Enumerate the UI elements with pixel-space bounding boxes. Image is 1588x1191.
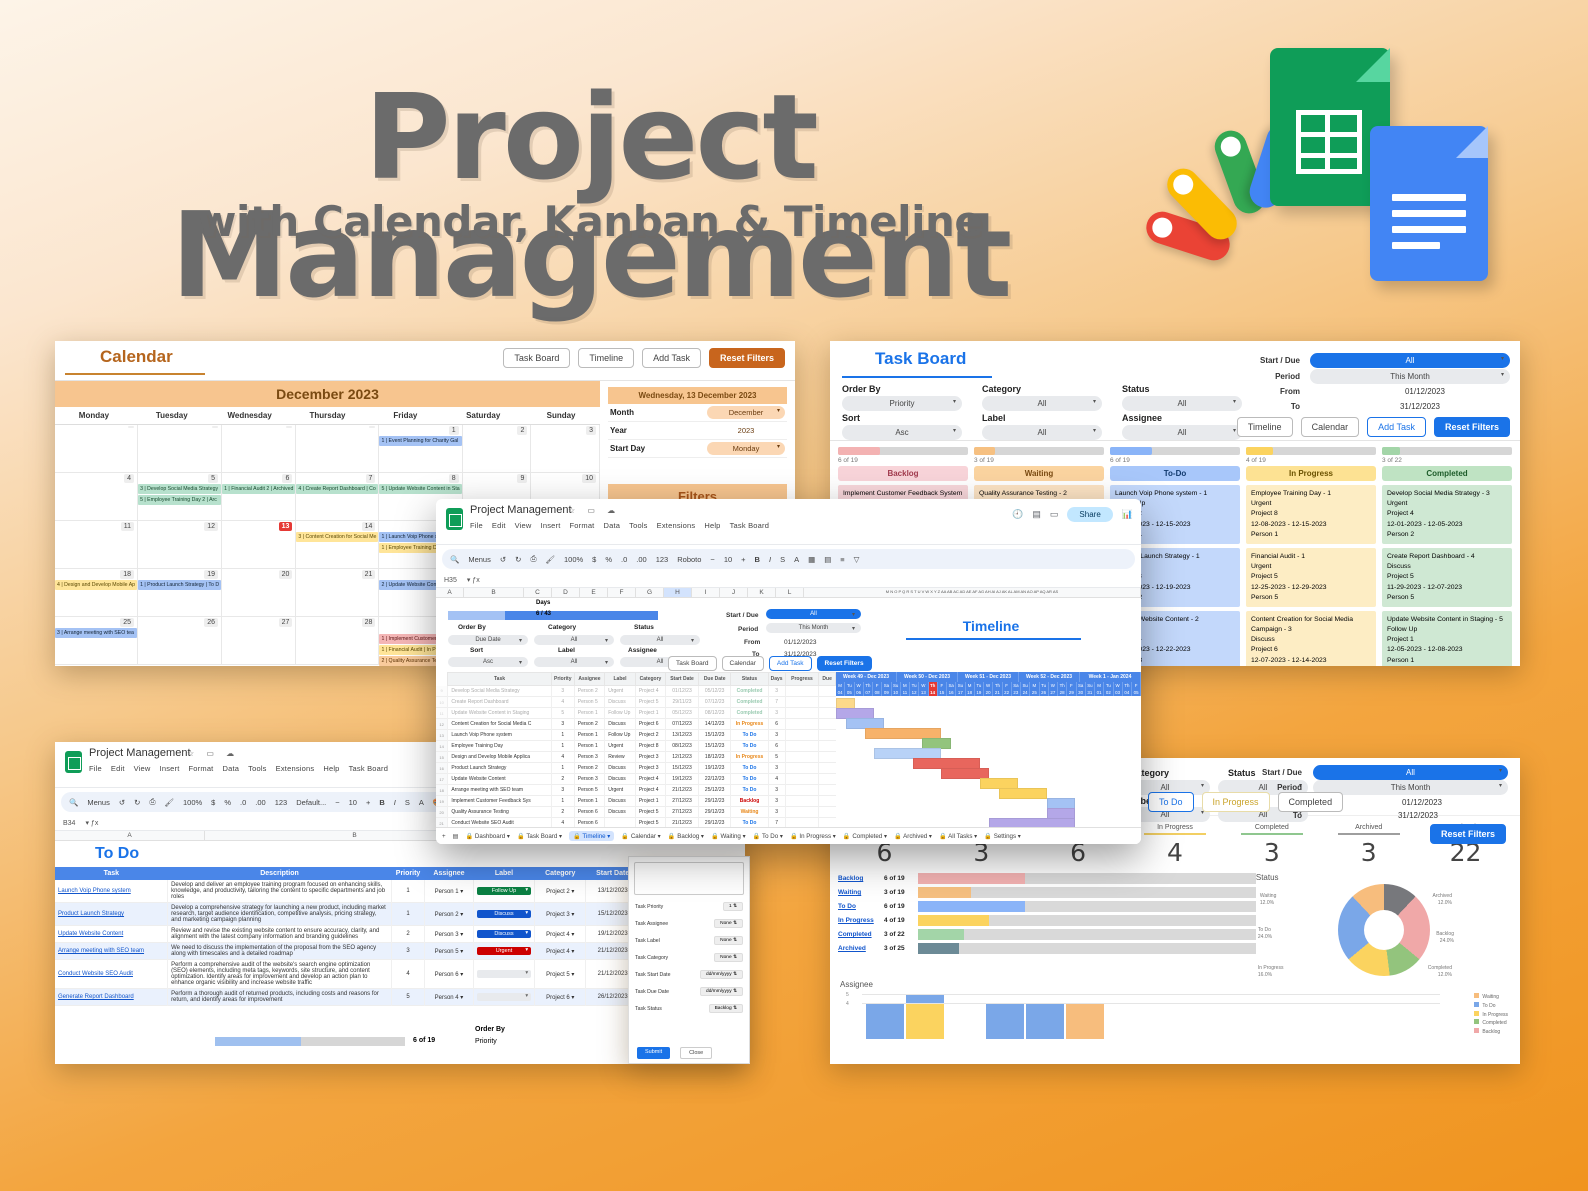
comment-icon[interactable]: ▤ (1032, 509, 1041, 520)
cell-category[interactable]: Project 4 (635, 774, 665, 785)
cell-assignee[interactable]: Person 1 (574, 741, 604, 752)
menu-bar[interactable]: FileEditViewInsertFormatDataToolsExtensi… (89, 764, 397, 773)
menu-item[interactable]: Task Board (730, 521, 770, 530)
task-card[interactable]: Employee Training Day - 1 UrgentProject … (1246, 485, 1376, 544)
italic-icon[interactable]: I (394, 798, 396, 807)
assignee-bar[interactable] (906, 995, 944, 1039)
col-e[interactable]: E (580, 588, 608, 597)
cell-label[interactable] (473, 989, 534, 1006)
calendar-event[interactable]: 5 | Update Website Content in Sta (379, 484, 461, 494)
cell-category[interactable]: Project 1 (635, 708, 665, 719)
menu-item[interactable]: Data (603, 521, 620, 530)
cell-task[interactable]: Launch Voip Phone system (448, 730, 551, 741)
cell-priority[interactable]: 2 (551, 807, 574, 818)
calendar-day-cell[interactable]: 27 (222, 617, 296, 665)
cell-task[interactable]: Arrange meeting with SEO team (448, 785, 551, 796)
sheet-tab-completed[interactable]: 🔒 Completed ▾ (843, 832, 887, 840)
calendar-event[interactable]: 3 | Develop Social Media Strategy (138, 484, 221, 494)
column-title[interactable]: To-Do (1110, 466, 1240, 481)
menu-item[interactable]: Insert (541, 521, 561, 530)
task-board-button[interactable]: Task Board (668, 656, 717, 671)
col-d[interactable]: D (552, 588, 580, 597)
cell-priority[interactable]: 2 (391, 926, 424, 943)
cell-priority[interactable]: 1 (551, 796, 574, 807)
table-row[interactable]: 10 Create Report Dashboard 4 Person 5 Di… (436, 697, 836, 708)
column-title[interactable]: In Progress (1246, 466, 1376, 481)
start-due-select[interactable]: All (1310, 353, 1510, 368)
cell-status[interactable]: To Do (731, 774, 768, 785)
col-c[interactable]: C (524, 588, 552, 597)
sheet-tab-to-do[interactable]: 🔒 To Do ▾ (753, 832, 783, 840)
col-h[interactable]: H (664, 588, 692, 597)
submit-button[interactable]: Submit (637, 1047, 670, 1059)
col-l[interactable]: L (776, 588, 804, 597)
menu-item[interactable]: Tools (248, 764, 267, 773)
chart-icon[interactable]: 📊 (1122, 509, 1133, 520)
sheet-tab-backlog[interactable]: 🔒 Backlog ▾ (668, 832, 704, 840)
cell-status[interactable]: Completed (731, 708, 768, 719)
calendar-event[interactable]: 3 | Arrange meeting with SEO tea (55, 628, 137, 638)
menu-item[interactable]: Task Board (349, 764, 389, 773)
calendar-day-cell[interactable]: 2 (463, 425, 532, 473)
cell-start-date[interactable]: 15/12/23 (666, 763, 699, 774)
cell-assignee[interactable]: Person 2 (574, 686, 604, 697)
cell-reference[interactable]: H35 (444, 577, 457, 584)
sort-select[interactable]: Asc (842, 425, 962, 440)
table-row[interactable]: 11 Update Website Content in Staging 5 P… (436, 708, 836, 719)
cell-status[interactable]: To Do (731, 730, 768, 741)
field-input[interactable]: dd/mm/yyyy ⇅ (700, 970, 743, 979)
cell-label[interactable]: Urgent (473, 943, 534, 960)
menu-item[interactable]: Extensions (657, 521, 696, 530)
merge-icon[interactable]: ▤ (824, 555, 831, 564)
calendar-day-cell[interactable]: 11 | Event Planning for Charity Gal (379, 425, 462, 473)
cell-assignee[interactable]: Person 1 ▾ (425, 880, 474, 903)
font-size-input[interactable]: 10 (349, 798, 357, 807)
cell-category[interactable]: Project 5 (635, 807, 665, 818)
cell-assignee[interactable]: Person 1 (574, 796, 604, 807)
font-size-input[interactable]: 10 (724, 555, 732, 564)
cell-task[interactable]: Product Launch Strategy (448, 763, 551, 774)
strikethrough-icon[interactable]: S (405, 798, 410, 807)
cell-reference[interactable]: B34 (63, 820, 75, 827)
sheet-tab-in-progress[interactable]: 🔒 In Progress ▾ (790, 832, 836, 840)
calendar-day-cell[interactable]: 3 (531, 425, 600, 473)
order-by-select[interactable]: Priority (842, 396, 962, 411)
cell-status[interactable]: To Do (731, 763, 768, 774)
cell-start-date[interactable]: 01/12/23 (666, 686, 699, 697)
font-decrease-icon[interactable]: − (335, 798, 339, 807)
table-row[interactable]: 13 Launch Voip Phone system 1 Person 1 F… (436, 730, 836, 741)
start-due-select[interactable]: All (1313, 765, 1508, 780)
cell-priority[interactable]: 4 (551, 752, 574, 763)
title-action-icons[interactable]: ☆ ▭ ☁ (568, 506, 620, 515)
col-rest[interactable]: M N O P Q R S T U V W X Y Z AA AB AC AD … (804, 588, 1141, 597)
cell-priority[interactable]: 3 (551, 719, 574, 730)
cell-start-date[interactable]: 13/12/23 (666, 730, 699, 741)
period-select[interactable]: This Month (1310, 369, 1510, 384)
gantt-bar[interactable] (999, 788, 1047, 799)
col-a[interactable]: A (436, 588, 464, 597)
table-row[interactable]: 17 Update Website Content 2 Person 3 Dis… (436, 774, 836, 785)
menu-item[interactable]: Format (189, 764, 214, 773)
menu-item[interactable]: View (134, 764, 151, 773)
bar-label[interactable]: To Do (838, 903, 884, 910)
cell-priority[interactable]: 3 (551, 686, 574, 697)
cell-start-date[interactable]: 29/11/23 (666, 697, 699, 708)
close-button[interactable]: Close (680, 1047, 712, 1059)
cell-start-date[interactable]: 27/12/23 (666, 796, 699, 807)
cell-label[interactable]: Discuss (605, 719, 636, 730)
italic-icon[interactable]: I (769, 555, 771, 564)
status-select[interactable]: All (1122, 396, 1242, 411)
cell-category[interactable]: Project 6 (635, 719, 665, 730)
calendar-day-cell[interactable]: 20 (222, 569, 296, 617)
add-task-button[interactable]: Add Task (769, 656, 812, 671)
filter-icon[interactable]: ▽ (854, 555, 860, 564)
col-k[interactable]: K (748, 588, 776, 597)
currency-icon[interactable]: $ (211, 798, 215, 807)
cell-task[interactable]: Create Report Dashboard (448, 697, 551, 708)
add-task-button[interactable]: Add Task (642, 348, 701, 368)
cell-priority[interactable]: 1 (551, 763, 574, 774)
print-icon[interactable]: ⎙ (530, 554, 536, 564)
cell-task[interactable]: Generate Report Dashboard (55, 989, 168, 1006)
menu-item[interactable]: Help (323, 764, 339, 773)
cell-category[interactable]: Project 2 (635, 730, 665, 741)
text-color-icon[interactable]: A (794, 555, 799, 564)
menu-item[interactable]: File (89, 764, 102, 773)
calendar-event[interactable]: 4 | Design and Develop Mobile Ap (55, 580, 137, 590)
cell-task[interactable]: Content Creation for Social Media C (448, 719, 551, 730)
calendar-day-cell[interactable]: 53 | Develop Social Media Strategy5 | Em… (138, 473, 222, 521)
reset-filters-button[interactable]: Reset Filters (1434, 417, 1510, 437)
cell-category[interactable]: Project 4 ▾ (535, 943, 586, 960)
cell-label[interactable]: Urgent (605, 785, 636, 796)
calendar-event[interactable]: 1 | Product Launch Strategy | To D (138, 580, 221, 590)
cell-due-date[interactable]: 25/12/23 (698, 785, 731, 796)
cell-start-date[interactable]: 19/12/23 (666, 774, 699, 785)
bar-label[interactable]: Waiting (838, 889, 884, 896)
cell-task[interactable]: Update Website Content in Staging (448, 708, 551, 719)
cell-priority[interactable]: 5 (551, 708, 574, 719)
cell-assignee[interactable]: Person 2 ▾ (425, 903, 474, 926)
tab-completed[interactable]: Completed (1278, 792, 1344, 812)
task-description-textarea[interactable] (634, 862, 744, 895)
cell-task[interactable]: Design and Develop Mobile Applica (448, 752, 551, 763)
paint-format-icon[interactable]: 🖌 (545, 555, 555, 564)
calendar-day-cell[interactable]: 253 | Arrange meeting with SEO tea (55, 617, 138, 665)
table-row[interactable]: 19 Implement Customer Feedback Sys 1 Per… (436, 796, 836, 807)
table-row[interactable]: 20 Quality Assurance Testing 2 Person 6 … (436, 807, 836, 818)
sheet-tab-settings[interactable]: 🔒 Settings ▾ (984, 832, 1021, 840)
calendar-day-cell[interactable] (55, 425, 138, 473)
cell-label[interactable]: Discuss (605, 763, 636, 774)
sheet-tab-task-board[interactable]: 🔒 Task Board ▾ (517, 832, 562, 840)
bold-icon[interactable]: B (755, 555, 760, 564)
number-format-icon[interactable]: 123 (656, 555, 669, 564)
share-button[interactable]: Share (1067, 507, 1112, 522)
cell-start-date[interactable]: 12/12/23 (666, 752, 699, 763)
calendar-day-cell[interactable]: 74 | Create Report Dashboard | Co (296, 473, 379, 521)
print-icon[interactable]: ⎙ (149, 797, 155, 807)
calendar-day-cell[interactable]: 61 | Financial Audit 2 | Archived (222, 473, 296, 521)
calendar-button[interactable]: Calendar (1301, 417, 1360, 437)
zoom-select[interactable]: 100% (183, 798, 202, 807)
field-input[interactable]: dd/mm/yyyy ⇅ (700, 987, 743, 996)
cell-category[interactable]: Project 2 ▾ (535, 880, 586, 903)
cell-priority[interactable]: 1 (391, 903, 424, 926)
menu-item[interactable]: File (470, 521, 483, 530)
col-f[interactable]: F (608, 588, 636, 597)
label-select[interactable]: All (534, 657, 614, 667)
col-b[interactable]: B (464, 588, 524, 597)
cell-assignee[interactable]: Person 5 (574, 697, 604, 708)
bar-label[interactable]: In Progress (838, 917, 884, 924)
cell-assignee[interactable]: Person 3 (574, 752, 604, 763)
decimal-decrease-icon[interactable]: .0 (621, 555, 627, 564)
table-row[interactable]: 15 Design and Develop Mobile Applica 4 P… (436, 752, 836, 763)
meet-icon[interactable]: ▭ (1050, 509, 1059, 520)
menu-item[interactable]: Data (222, 764, 239, 773)
cell-priority[interactable]: 4 (391, 960, 424, 989)
paint-format-icon[interactable]: 🖌 (164, 798, 174, 807)
sheet-tab-dashboard[interactable]: 🔒 Dashboard ▾ (465, 832, 510, 840)
task-card[interactable]: Content Creation for Social Media Campai… (1246, 611, 1376, 666)
bar-label[interactable]: Archived (838, 945, 884, 952)
cell-priority[interactable]: 2 (551, 774, 574, 785)
cell-assignee[interactable]: Person 5 (574, 785, 604, 796)
cell-label[interactable]: Review (605, 752, 636, 763)
cell-category[interactable]: Project 3 ▾ (535, 903, 586, 926)
text-color-icon[interactable]: A (419, 798, 424, 807)
cell-start-date[interactable]: 27/12/23 (666, 807, 699, 818)
cell-due-date[interactable]: 18/12/23 (698, 752, 731, 763)
bar-label[interactable]: Backlog (838, 875, 884, 882)
cell-priority[interactable]: 1 (391, 880, 424, 903)
font-increase-icon[interactable]: + (741, 555, 745, 564)
task-card[interactable]: Update Website Content in Staging - 5 Fo… (1382, 611, 1512, 666)
cell-task[interactable]: Develop Social Media Strategy (448, 686, 551, 697)
cell-status[interactable]: Completed (731, 686, 768, 697)
cell-task[interactable]: Implement Customer Feedback Sys (448, 796, 551, 807)
cell-assignee[interactable]: Person 2 (574, 719, 604, 730)
cell-priority[interactable]: 3 (551, 785, 574, 796)
calendar-event[interactable]: 5 | Employee Training Day 2 | Arc (138, 495, 221, 505)
field-input[interactable]: None ⇅ (714, 936, 743, 945)
column-title[interactable]: Waiting (974, 466, 1104, 481)
cell-status[interactable]: In Progress (731, 719, 768, 730)
field-input[interactable]: 1 ⇅ (723, 902, 743, 911)
col-j[interactable]: J (720, 588, 748, 597)
cell-label[interactable]: Follow Up (605, 730, 636, 741)
table-row[interactable]: 12 Content Creation for Social Media C 3… (436, 719, 836, 730)
cell-status[interactable]: Backlog (731, 796, 768, 807)
cell-priority[interactable]: 4 (551, 697, 574, 708)
tab-inprogress[interactable]: In Progress (1202, 792, 1270, 812)
menus-label[interactable]: Menus (468, 555, 491, 564)
table-row[interactable]: 9 Develop Social Media Strategy 3 Person… (436, 686, 836, 697)
cell-assignee[interactable]: Person 6 (574, 807, 604, 818)
cell-task[interactable]: Conduct Website SEO Audit (55, 960, 168, 989)
cell-priority[interactable]: 5 (391, 989, 424, 1006)
cell-task[interactable]: Product Launch Strategy (55, 903, 168, 926)
cell-assignee[interactable]: Person 3 ▾ (425, 926, 474, 943)
document-title[interactable]: Project Management (470, 504, 572, 516)
cell-start-date[interactable]: 08/12/23 (666, 741, 699, 752)
cell-priority[interactable]: 3 (391, 943, 424, 960)
category-select[interactable]: All (534, 635, 614, 645)
calendar-day-cell[interactable]: 13 (222, 521, 296, 569)
sort-select[interactable]: Asc (448, 657, 528, 667)
cell-start-date[interactable]: 21/12/23 (666, 785, 699, 796)
cell-label[interactable]: Discuss (605, 796, 636, 807)
calendar-event[interactable]: 1 | Financial Audit 2 | Archived (222, 484, 295, 494)
redo-icon[interactable]: ↻ (515, 555, 521, 564)
field-input[interactable]: Backlog ⇅ (709, 1004, 743, 1013)
search-icon[interactable]: 🔍 (450, 555, 459, 564)
cell-category[interactable]: Project 1 (635, 796, 665, 807)
task-card[interactable]: Develop Social Media Strategy - 3 Urgent… (1382, 485, 1512, 544)
add-task-button[interactable]: Add Task (1367, 417, 1426, 437)
reset-filters-button[interactable]: Reset Filters (1430, 824, 1506, 844)
cell-due-date[interactable]: 15/12/23 (698, 730, 731, 741)
cell-category[interactable]: Project 3 (635, 763, 665, 774)
calendar-button[interactable]: Calendar (722, 656, 764, 671)
sheet-tab-all-tasks[interactable]: 🔒 All Tasks ▾ (939, 832, 977, 840)
sheet-tab-calendar[interactable]: 🔒 Calendar ▾ (621, 832, 660, 840)
menus-label[interactable]: Menus (87, 798, 110, 807)
percent-icon[interactable]: % (224, 798, 231, 807)
calendar-day-cell[interactable]: 21 (296, 569, 379, 617)
table-row[interactable]: 14 Employee Training Day 1 Person 1 Urge… (436, 741, 836, 752)
bar-label[interactable]: Completed (838, 931, 884, 938)
cell-due-date[interactable]: 29/12/23 (698, 807, 731, 818)
calendar-day-cell[interactable]: 4 (55, 473, 138, 521)
assignee-bar[interactable] (1066, 1004, 1104, 1039)
calendar-day-cell[interactable] (222, 425, 296, 473)
font-decrease-icon[interactable]: − (710, 555, 714, 564)
cell-due-date[interactable]: 07/12/23 (698, 697, 731, 708)
timeline-button[interactable]: Timeline (1237, 417, 1293, 437)
decimal-increase-icon[interactable]: .00 (636, 555, 646, 564)
decimal-decrease-icon[interactable]: .0 (240, 798, 246, 807)
cell-assignee[interactable]: Person 1 (574, 708, 604, 719)
menu-item[interactable]: Edit (111, 764, 125, 773)
calendar-event[interactable]: 1 | Event Planning for Charity Gal (379, 436, 461, 446)
cell-label[interactable]: Discuss (473, 903, 534, 926)
cell-category[interactable]: Project 5 ▾ (535, 960, 586, 989)
reset-filters-button[interactable]: Reset Filters (817, 656, 872, 671)
formula-bar[interactable]: H35 ▾ ƒx (436, 573, 1141, 588)
font-select[interactable]: Roboto (677, 555, 701, 564)
menu-item[interactable]: Tools (629, 521, 648, 530)
menu-item[interactable]: Edit (492, 521, 506, 530)
cell-status[interactable]: Waiting (731, 807, 768, 818)
cell-assignee[interactable]: Person 3 (574, 774, 604, 785)
table-row[interactable]: 18 Arrange meeting with SEO team 3 Perso… (436, 785, 836, 796)
cell-label[interactable]: Discuss (473, 926, 534, 943)
order-by-value[interactable]: Priority (475, 1038, 497, 1045)
calendar-day-cell[interactable]: 184 | Design and Develop Mobile Ap (55, 569, 138, 617)
calendar-day-cell[interactable]: 191 | Product Launch Strategy | To D (138, 569, 222, 617)
menu-bar[interactable]: FileEditViewInsertFormatDataToolsExtensi… (470, 521, 778, 530)
document-title[interactable]: Project Management (89, 747, 191, 759)
decimal-increase-icon[interactable]: .00 (255, 798, 265, 807)
table-row[interactable]: 16 Product Launch Strategy 1 Person 2 Di… (436, 763, 836, 774)
undo-icon[interactable]: ↺ (119, 798, 125, 807)
timeline-button[interactable]: Timeline (578, 348, 634, 368)
cell-category[interactable]: Project 6 ▾ (535, 989, 586, 1006)
task-board-button[interactable]: Task Board (503, 348, 570, 368)
zoom-select[interactable]: 100% (564, 555, 583, 564)
period-select[interactable]: This Month (766, 623, 861, 633)
cell-task[interactable]: Update Website Content (448, 774, 551, 785)
order-by-select[interactable]: Due Date (448, 635, 528, 645)
tab-todo[interactable]: To Do (1148, 792, 1194, 812)
cell-label[interactable]: Urgent (605, 741, 636, 752)
cell-label[interactable]: Follow Up (473, 880, 534, 903)
cell-task[interactable]: Launch Voip Phone system (55, 880, 168, 903)
cell-status[interactable]: To Do (731, 741, 768, 752)
cell-task[interactable]: Quality Assurance Testing (448, 807, 551, 818)
col-a[interactable]: A (55, 831, 205, 840)
cell-label[interactable]: Discuss (605, 807, 636, 818)
search-icon[interactable]: 🔍 (69, 798, 78, 807)
menu-item[interactable]: Help (704, 521, 720, 530)
cell-label[interactable]: Urgent (605, 686, 636, 697)
calendar-day-cell[interactable]: 28 (296, 617, 379, 665)
cell-due-date[interactable]: 05/12/23 (698, 686, 731, 697)
cell-assignee[interactable]: Person 4 ▾ (425, 989, 474, 1006)
cell-category[interactable]: Project 4 (635, 785, 665, 796)
calendar-day-cell[interactable] (138, 425, 222, 473)
reset-filters-button[interactable]: Reset Filters (709, 348, 785, 368)
font-increase-icon[interactable]: + (366, 798, 370, 807)
task-card[interactable]: Create Report Dashboard - 4 DiscussProje… (1382, 548, 1512, 607)
column-title[interactable]: Completed (1382, 466, 1512, 481)
cell-assignee[interactable]: Person 5 ▾ (425, 943, 474, 960)
cell-due-date[interactable]: 15/12/23 (698, 741, 731, 752)
cell-status[interactable]: To Do (731, 785, 768, 796)
cell-category[interactable]: Project 8 (635, 741, 665, 752)
cell-due-date[interactable]: 14/12/23 (698, 719, 731, 730)
cell-priority[interactable]: 1 (551, 730, 574, 741)
cell-status[interactable]: In Progress (731, 752, 768, 763)
calendar-day-cell[interactable]: 11 (55, 521, 138, 569)
category-select[interactable]: All (982, 396, 1102, 411)
borders-icon[interactable]: ▦ (808, 555, 815, 564)
cell-due-date[interactable]: 22/12/23 (698, 774, 731, 785)
strikethrough-icon[interactable]: S (780, 555, 785, 564)
title-action-icons[interactable]: ☆ ▭ ☁ (187, 749, 239, 758)
cell-label[interactable]: Discuss (605, 697, 636, 708)
undo-icon[interactable]: ↺ (500, 555, 506, 564)
cell-priority[interactable]: 1 (551, 741, 574, 752)
cell-category[interactable]: Project 4 ▾ (535, 926, 586, 943)
cell-assignee[interactable]: Person 2 (574, 763, 604, 774)
align-icon[interactable]: ≡ (840, 555, 844, 564)
assignee-bar[interactable] (1026, 1004, 1064, 1039)
field-input[interactable]: None ⇅ (714, 919, 743, 928)
menu-item[interactable]: Format (570, 521, 595, 530)
cell-task[interactable]: Update Website Content (55, 926, 168, 943)
sheet-tab-timeline[interactable]: 🔒 Timeline ▾ (569, 831, 614, 841)
cell-start-date[interactable]: 05/12/23 (666, 708, 699, 719)
cell-due-date[interactable]: 29/12/23 (698, 796, 731, 807)
cell-assignee[interactable]: Person 6 ▾ (425, 960, 474, 989)
start-due-select[interactable]: All (766, 609, 861, 619)
